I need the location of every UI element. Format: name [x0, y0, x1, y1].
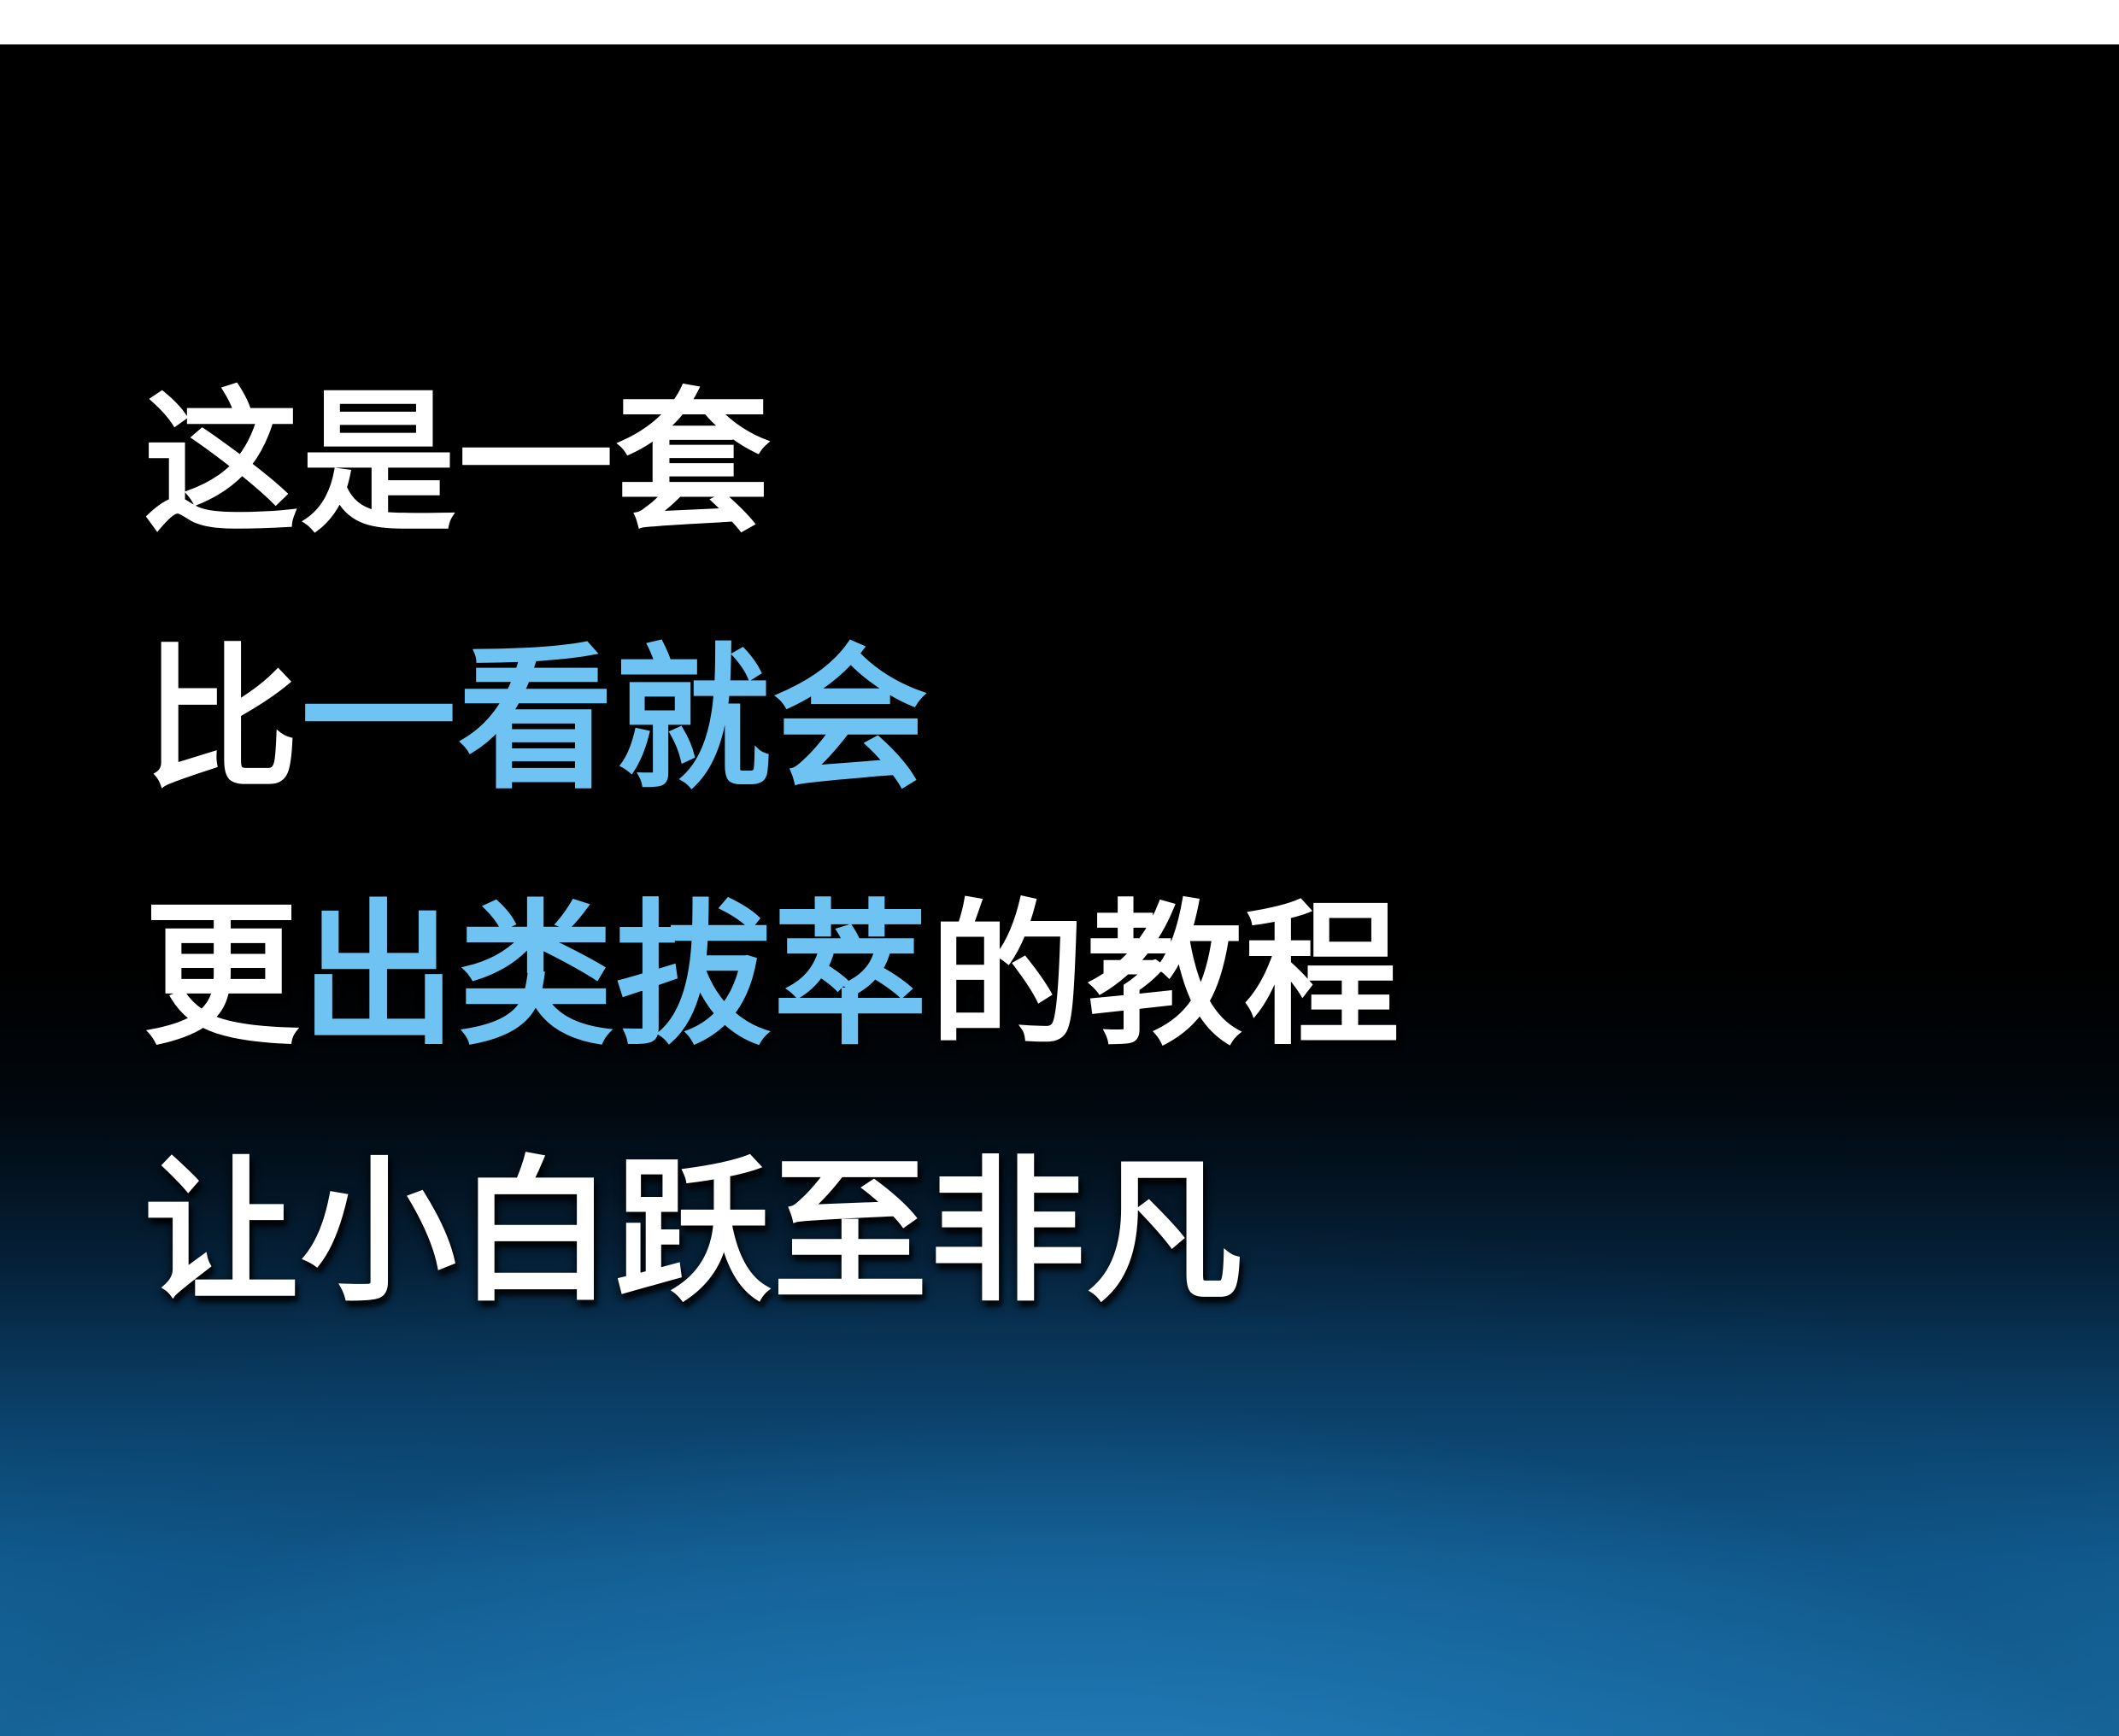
- headline-line-3-segment-2-accent: 出类拔萃: [301, 889, 930, 1063]
- headline-line-2: 比一看就会: [144, 591, 1401, 847]
- headline-line-1-segment-1: 这是一套: [144, 376, 772, 550]
- headline-block: 这是一套 比一看就会 更出类拔萃的教程 让小白跃至非凡: [144, 335, 1401, 1360]
- headline-line-3-segment-3: 的教程: [930, 889, 1401, 1063]
- top-white-band: [0, 0, 2119, 44]
- headline-line-2-segment-2-accent: 一看就会: [301, 632, 930, 806]
- headline-line-1: 这是一套: [144, 335, 1401, 591]
- headline-line-4: 让小白跃至非凡: [144, 1104, 1401, 1360]
- headline-line-3-segment-1: 更: [144, 889, 301, 1063]
- headline-line-3: 更出类拔萃的教程: [144, 847, 1401, 1104]
- poster-canvas: 这是一套 比一看就会 更出类拔萃的教程 让小白跃至非凡: [0, 0, 2119, 1736]
- headline-line-4-segment-1: 让小白跃至非凡: [144, 1145, 1244, 1319]
- headline-line-2-segment-1: 比: [144, 632, 301, 806]
